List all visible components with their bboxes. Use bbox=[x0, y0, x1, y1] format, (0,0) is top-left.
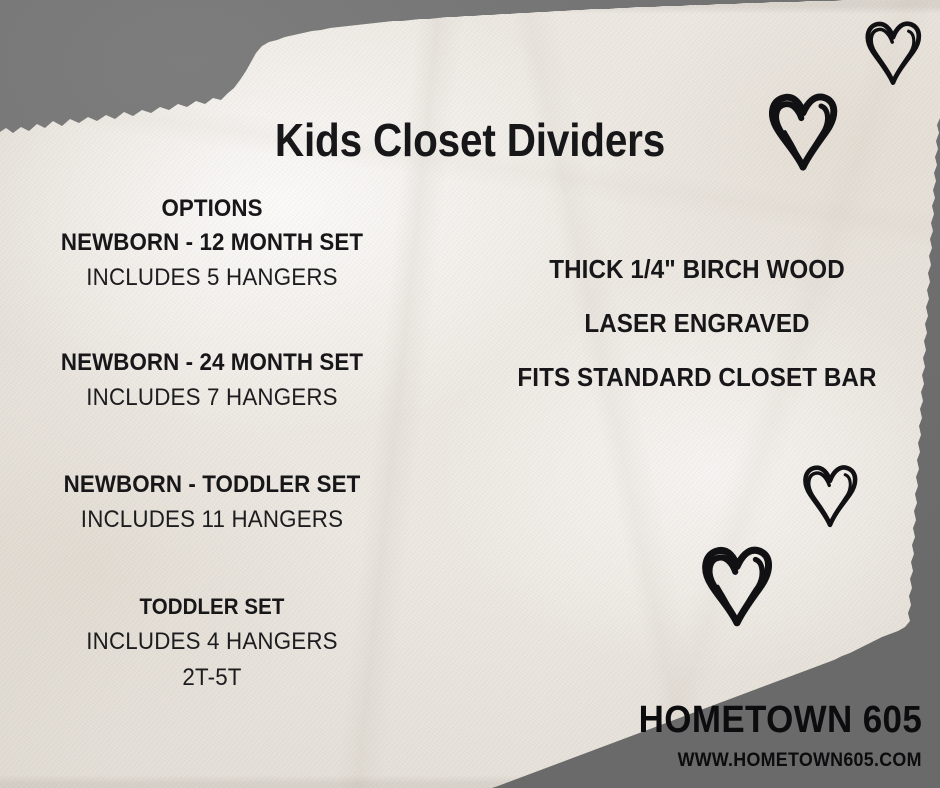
brand-website: WWW.HOMETOWN605.COM bbox=[678, 750, 922, 772]
heart-doodle-upper-right-icon bbox=[757, 88, 849, 174]
spec-line-fit: FITS STANDARD CLOSET BAR bbox=[511, 350, 883, 404]
option-block-newborn-toddler: NEWBORN - TODDLER SET INCLUDES 11 HANGER… bbox=[12, 468, 412, 538]
option-label: NEWBORN - 12 MONTH SET bbox=[26, 226, 398, 260]
heart-doodle-lower-right-icon bbox=[691, 541, 783, 629]
option-block-newborn-24-month: NEWBORN - 24 MONTH SET INCLUDES 7 HANGER… bbox=[12, 346, 412, 416]
option-label: NEWBORN - TODDLER SET bbox=[26, 468, 398, 502]
spec-line-engraving: LASER ENGRAVED bbox=[511, 296, 883, 350]
options-heading: OPTIONS bbox=[26, 192, 398, 226]
option-includes: INCLUDES 7 HANGERS bbox=[26, 380, 398, 416]
heart-doodle-top-right-icon bbox=[852, 14, 934, 92]
spacer bbox=[12, 296, 412, 346]
option-block-toddler: TODDLER SET INCLUDES 4 HANGERS 2T-5T bbox=[12, 590, 412, 696]
poster-canvas: Kids Closet Dividers OPTIONS NEWBORN - 1… bbox=[0, 0, 940, 788]
option-includes: INCLUDES 4 HANGERS bbox=[26, 624, 398, 660]
brand-name: HOMETOWN 605 bbox=[638, 699, 922, 742]
spacer bbox=[12, 416, 412, 468]
spacer bbox=[12, 538, 412, 590]
options-column: OPTIONS NEWBORN - 12 MONTH SET INCLUDES … bbox=[12, 192, 412, 696]
option-includes: INCLUDES 11 HANGERS bbox=[26, 502, 398, 538]
option-includes: INCLUDES 5 HANGERS bbox=[26, 260, 398, 296]
spec-line-material: THICK 1/4" BIRCH WOOD bbox=[511, 242, 883, 296]
option-sizes: 2T-5T bbox=[26, 660, 398, 696]
option-label: NEWBORN - 24 MONTH SET bbox=[26, 346, 398, 380]
option-block-newborn-12-month: NEWBORN - 12 MONTH SET INCLUDES 5 HANGER… bbox=[12, 226, 412, 296]
option-label: TODDLER SET bbox=[26, 590, 398, 624]
heart-doodle-mid-right-icon bbox=[790, 458, 870, 534]
specs-column: THICK 1/4" BIRCH WOOD LASER ENGRAVED FIT… bbox=[497, 242, 897, 404]
